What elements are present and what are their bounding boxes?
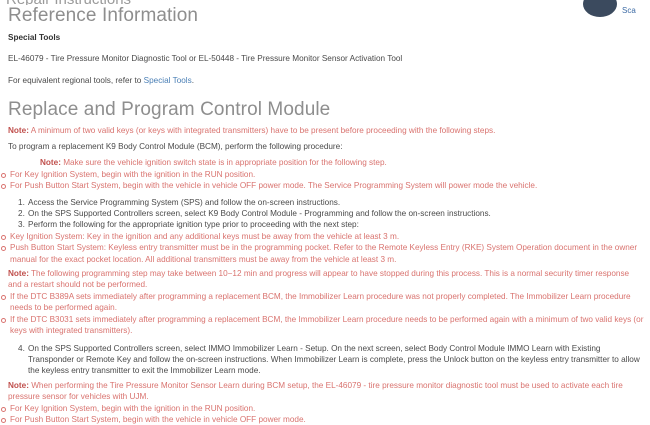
note-text: When performing the Tire Pressure Monito… — [8, 381, 623, 401]
note-tpms-learn: Note: When performing the Tire Pressure … — [8, 380, 650, 403]
note-label: Note: — [8, 269, 29, 278]
list-item: Key Ignition System: Key in the ignition… — [0, 231, 650, 242]
special-tools-link[interactable]: Special Tools — [144, 76, 192, 85]
regional-tools-line: For equivalent regional tools, refer to … — [8, 75, 650, 86]
procedure-steps: Access the Service Programming System (S… — [0, 197, 650, 231]
special-tools-heading: Special Tools — [8, 33, 650, 42]
note-label: Note: — [8, 126, 29, 135]
list-item: On the SPS Supported Controllers screen,… — [18, 343, 650, 377]
step3-bullets: Key Ignition System: Key in the ignition… — [0, 231, 650, 265]
document-content: Reference Information Special Tools EL-4… — [0, 0, 650, 425]
note-text: A minimum of two valid keys (or keys wit… — [29, 126, 495, 135]
note-tpms-bullets: For Key Ignition System, begin with the … — [0, 403, 650, 425]
procedure-steps-continued: On the SPS Supported Controllers screen,… — [0, 343, 650, 377]
section-title: Replace and Program Control Module — [8, 99, 650, 121]
note-programming-timer: Note: The following programming step may… — [8, 268, 650, 291]
page-title: Reference Information — [8, 6, 650, 26]
list-item: If the DTC B3031 sets immediately after … — [0, 314, 650, 337]
list-item: On the SPS Supported Controllers screen,… — [18, 208, 650, 219]
note-ignition-bullets: For Key Ignition System, begin with the … — [0, 169, 650, 192]
list-item: For Key Ignition System, begin with the … — [0, 403, 650, 414]
note-dtc-bullets: If the DTC B389A sets immediately after … — [0, 291, 650, 337]
list-item: For Push Button Start System, begin with… — [0, 414, 650, 425]
intro-paragraph: To program a replacement K9 Body Control… — [8, 141, 650, 152]
regional-tools-prefix: For equivalent regional tools, refer to — [8, 76, 144, 85]
list-item: For Key Ignition System, begin with the … — [0, 169, 650, 180]
note-label: Note: — [40, 158, 61, 167]
note-text: The following programming step may take … — [8, 269, 629, 289]
note-keys-required: Note: A minimum of two valid keys (or ke… — [8, 125, 650, 136]
note-label: Note: — [8, 381, 29, 390]
list-item: Push Button Start System: Keyless entry … — [0, 242, 650, 265]
note-text: Make sure the vehicle ignition switch st… — [61, 158, 387, 167]
list-item: Perform the following for the appropriat… — [18, 219, 650, 230]
regional-tools-suffix: . — [192, 76, 194, 85]
note-ignition-state: Note: Make sure the vehicle ignition swi… — [40, 157, 650, 168]
special-tools-line: EL-46079 - Tire Pressure Monitor Diagnos… — [8, 53, 650, 64]
list-item: Access the Service Programming System (S… — [18, 197, 650, 208]
list-item: For Push Button Start System, begin with… — [0, 180, 650, 191]
list-item: If the DTC B389A sets immediately after … — [0, 291, 650, 314]
